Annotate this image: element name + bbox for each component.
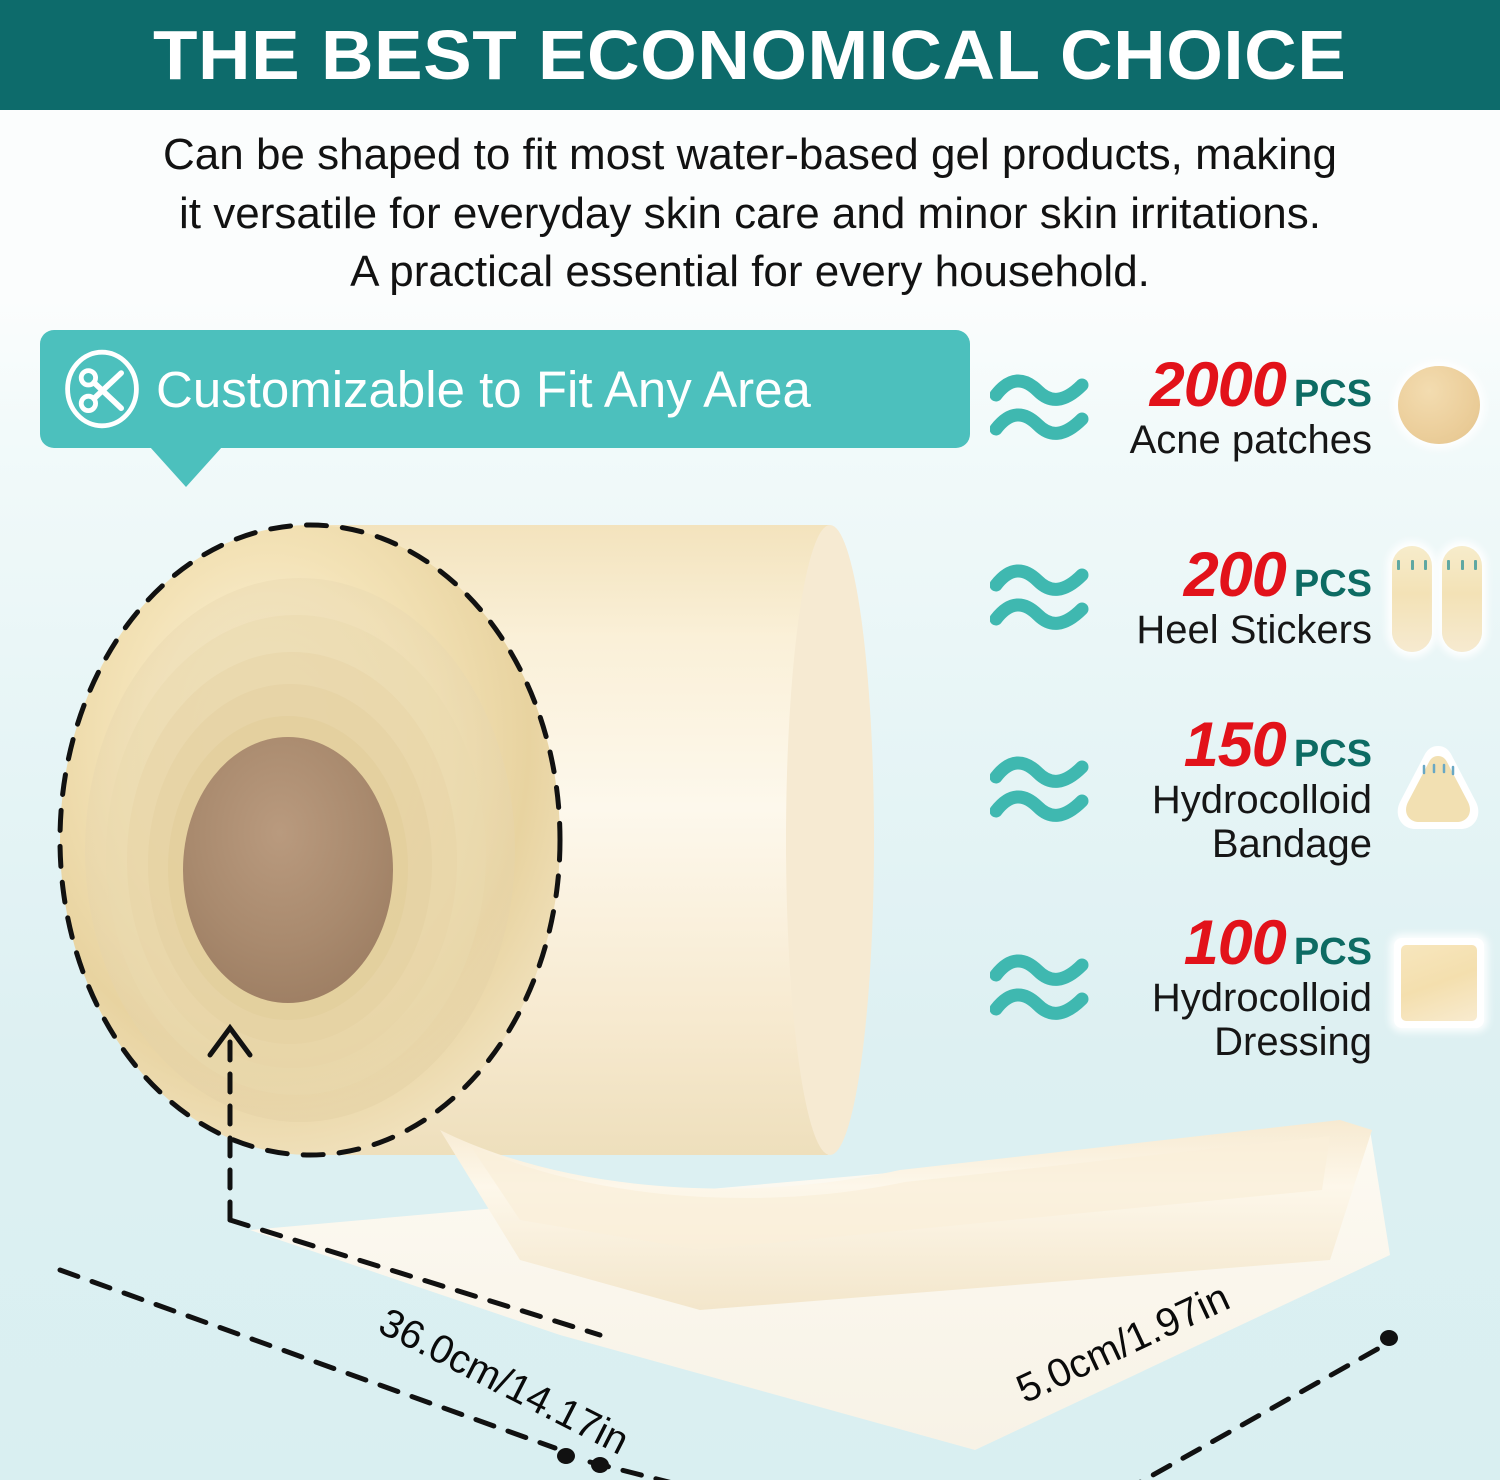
stat-headline: 150PCS xyxy=(1100,714,1372,777)
hydrocolloid-dressing-thumbnail xyxy=(1386,928,1490,1048)
strip-tick-marks xyxy=(1397,560,1427,570)
stat-headline: 200PCS xyxy=(1100,544,1372,607)
header-band: THE BEST ECONOMICAL CHOICE xyxy=(0,0,1500,110)
wave-icon xyxy=(990,371,1100,445)
stat-label: Heel Stickers xyxy=(1100,609,1372,652)
stat-headline: 100PCS xyxy=(1100,912,1372,975)
heel-strip-left xyxy=(1392,546,1432,652)
acne-patch-thumbnail xyxy=(1386,348,1490,468)
stat-row-hydrocolloid-dressing: 100PCS Hydrocolloid Dressing xyxy=(990,918,1490,1058)
stat-row-acne-patches: 2000PCS Acne patches xyxy=(990,338,1490,478)
stat-unit: PCS xyxy=(1294,931,1372,973)
hydrocolloid-bandage-thumbnail xyxy=(1386,730,1490,850)
stat-label: Acne patches xyxy=(1100,419,1372,462)
heel-strip-pair xyxy=(1390,546,1486,654)
stat-unit: PCS xyxy=(1294,563,1372,605)
banner-label: Customizable to Fit Any Area xyxy=(156,360,811,419)
stat-label: Hydrocolloid Dressing xyxy=(1100,977,1372,1063)
subtitle-line-1: Can be shaped to fit most water-based ge… xyxy=(0,126,1500,185)
stat-unit: PCS xyxy=(1294,373,1372,415)
page-title: THE BEST ECONOMICAL CHOICE xyxy=(153,15,1346,95)
wave-icon xyxy=(990,561,1100,635)
stat-count: 150 xyxy=(1184,710,1286,780)
stat-count: 200 xyxy=(1184,540,1286,610)
round-patch-shape xyxy=(1398,366,1480,444)
subtitle-line-3: A practical essential for every househol… xyxy=(0,243,1500,302)
subtitle-text: Can be shaped to fit most water-based ge… xyxy=(0,126,1500,302)
scissors-icon xyxy=(62,349,142,429)
stat-headline: 2000PCS xyxy=(1100,354,1372,417)
rounded-triangle-shape xyxy=(1390,740,1486,836)
infographic-page: THE BEST ECONOMICAL CHOICE Can be shaped… xyxy=(0,0,1500,1480)
stat-count: 2000 xyxy=(1150,350,1286,420)
heel-sticker-thumbnail xyxy=(1386,538,1490,658)
roll-core xyxy=(183,737,393,1003)
roll-body-right-cap xyxy=(786,525,874,1155)
stat-label: Hydrocolloid Bandage xyxy=(1100,779,1372,865)
strip-tick-marks xyxy=(1447,560,1477,570)
heel-strip-right xyxy=(1442,546,1482,652)
subtitle-line-2: it versatile for everyday skin care and … xyxy=(0,185,1500,244)
stat-count: 100 xyxy=(1184,908,1286,978)
stat-text: 2000PCS Acne patches xyxy=(1100,354,1386,462)
wave-icon xyxy=(990,753,1100,827)
rounded-square-shape xyxy=(1394,938,1484,1028)
stat-text: 150PCS Hydrocolloid Bandage xyxy=(1100,714,1386,865)
stat-text: 100PCS Hydrocolloid Dressing xyxy=(1100,912,1386,1063)
stat-row-heel-stickers: 200PCS Heel Stickers xyxy=(990,528,1490,668)
stat-text: 200PCS Heel Stickers xyxy=(1100,544,1386,652)
wave-icon xyxy=(990,951,1100,1025)
stats-list: 2000PCS Acne patches 200PCS Heel Sticker… xyxy=(990,330,1490,1075)
stat-unit: PCS xyxy=(1294,733,1372,775)
stat-row-hydrocolloid-bandage: 150PCS Hydrocolloid Bandage xyxy=(990,720,1490,860)
